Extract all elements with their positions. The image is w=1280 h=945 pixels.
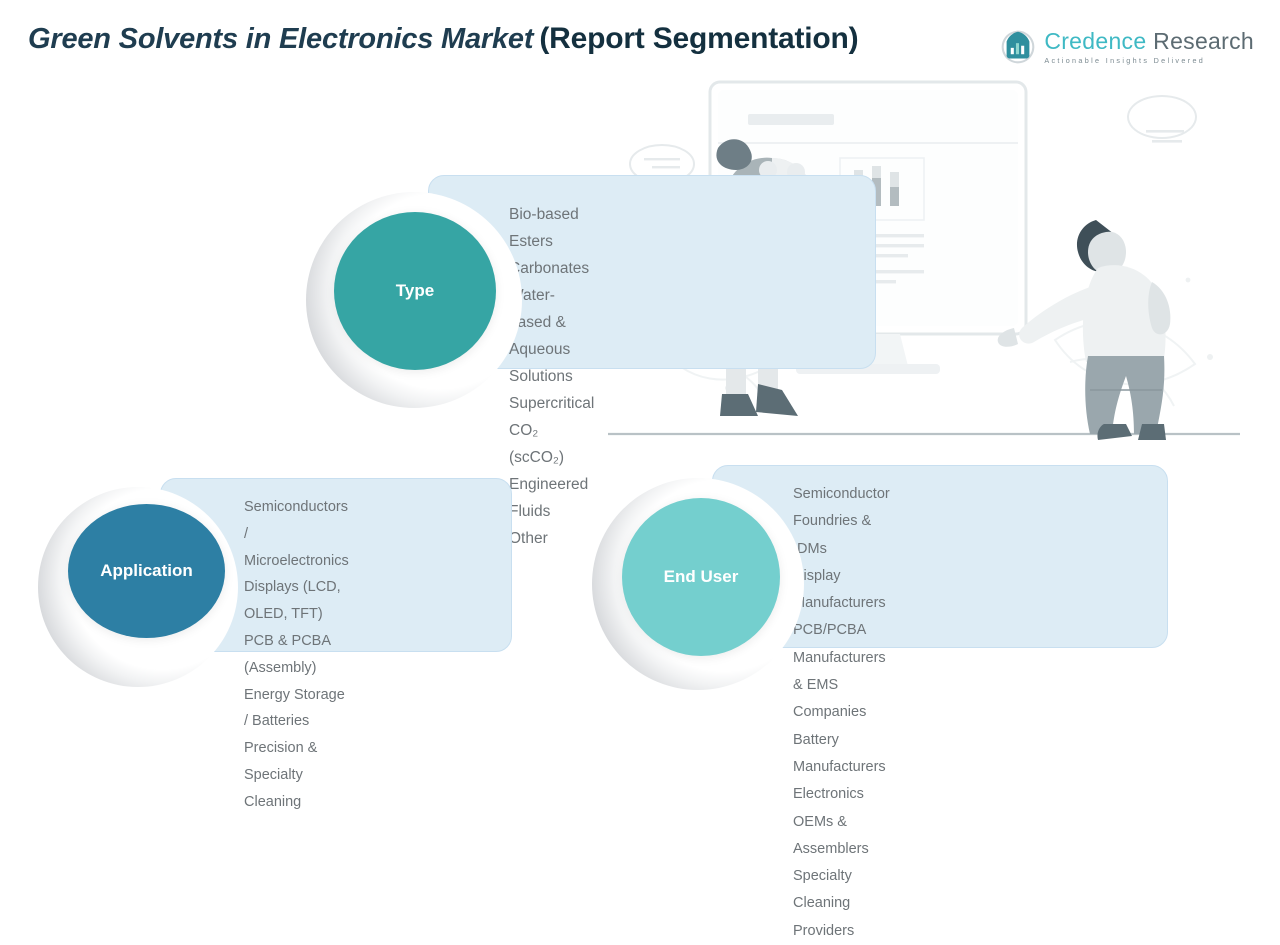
logo-name-research: Research xyxy=(1153,28,1254,54)
segment-end-user-list: Semiconductor Foundries & IDMs Display M… xyxy=(793,481,890,945)
logo-name-credence: Credence xyxy=(1044,28,1146,54)
segment-end-user-bubble[interactable]: End User xyxy=(622,498,780,656)
bar-chart-circle-logo-icon xyxy=(1001,30,1035,64)
list-item: PCB/PCBA Manufacturers & EMS Companies xyxy=(793,617,890,726)
list-item: Carbonates xyxy=(509,255,594,282)
credence-research-logo: Credence Research Actionable Insights De… xyxy=(1001,24,1254,70)
list-item: Other xyxy=(509,525,594,552)
list-item: Bio-based Esters xyxy=(509,201,594,255)
list-item: Electronics OEMs & Assemblers xyxy=(793,781,890,863)
page-title-main: Green Solvents in Electronics Market xyxy=(28,23,533,55)
list-item: PCB & PCBA (Assembly) xyxy=(244,628,349,682)
segment-application-label: Application xyxy=(100,561,193,581)
list-item: Displays (LCD, OLED, TFT) xyxy=(244,574,349,628)
list-item: Display Manufacturers xyxy=(793,563,890,618)
list-item: Supercritical CO₂ (scCO₂) xyxy=(509,390,594,471)
logo-company-name: Credence Research xyxy=(1044,30,1254,53)
list-item: Semiconductors / Microelectronics xyxy=(244,494,349,574)
segment-type-label: Type xyxy=(396,281,434,301)
page-title-subtitle: (Report Segmentation) xyxy=(539,22,858,55)
segment-end-user-label: End User xyxy=(664,567,739,587)
page-title: Green Solvents in Electronics Market(Rep… xyxy=(28,22,858,56)
list-item: Precision & Specialty Cleaning xyxy=(244,735,349,815)
list-item: Engineered Fluids xyxy=(509,471,594,525)
segment-type-bubble[interactable]: Type xyxy=(334,212,496,370)
logo-text: Credence Research Actionable Insights De… xyxy=(1044,30,1254,64)
segment-application-list: Semiconductors / Microelectronics Displa… xyxy=(244,494,349,816)
logo-tagline: Actionable Insights Delivered xyxy=(1044,57,1254,64)
standing-person-pointing xyxy=(998,220,1171,440)
speech-bubble-right xyxy=(1128,96,1196,174)
list-item: Energy Storage / Batteries xyxy=(244,682,349,736)
list-item: Specialty Cleaning Providers xyxy=(793,863,890,945)
segment-type-list: Bio-based Esters Carbonates Water-based … xyxy=(509,201,594,552)
list-item: Battery Manufacturers xyxy=(793,727,890,782)
segment-application-bubble[interactable]: Application xyxy=(68,504,225,638)
list-item: Semiconductor Foundries & IDMs xyxy=(793,481,890,563)
